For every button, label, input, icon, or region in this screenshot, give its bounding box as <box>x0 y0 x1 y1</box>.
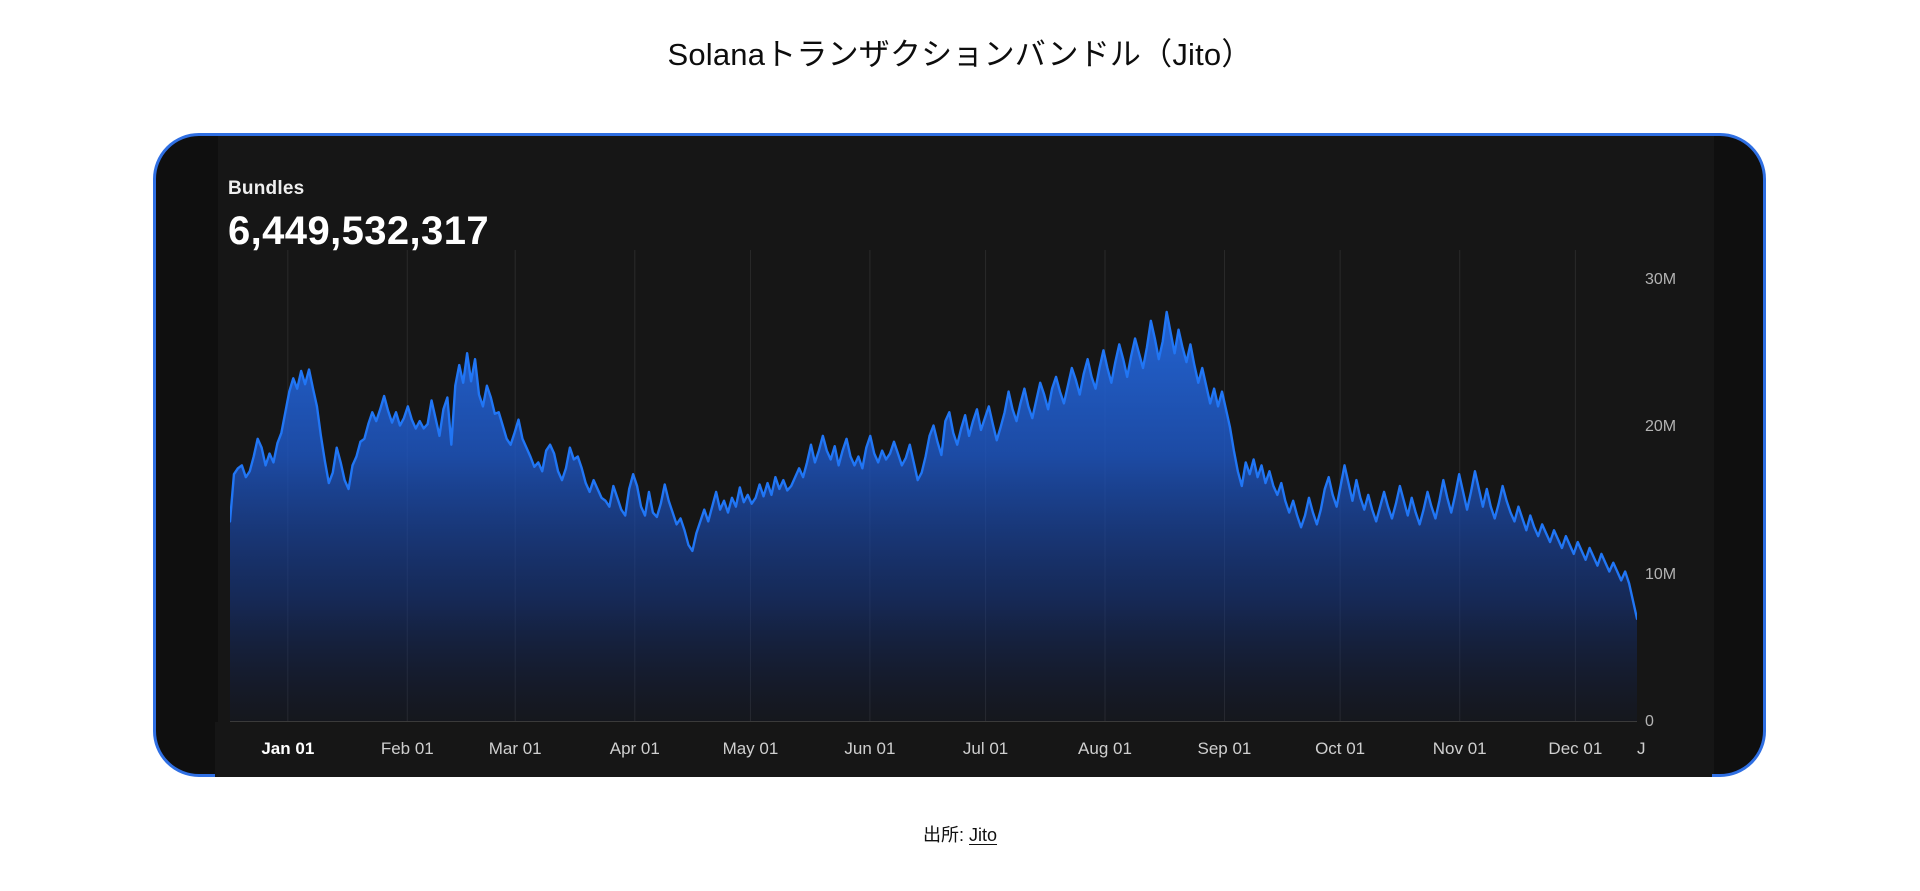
source-prefix: 出所: <box>923 825 969 845</box>
area-fill <box>230 312 1637 722</box>
area-chart-plot[interactable] <box>230 250 1637 722</box>
y-axis-tick: 30M <box>1645 271 1676 289</box>
x-axis-tick: Feb 01 <box>381 737 434 761</box>
metric-label: Bundles <box>228 177 489 201</box>
source-note: 出所: Jito <box>0 822 1920 848</box>
x-axis-tick: May 01 <box>723 737 779 761</box>
x-axis-tick: Nov 01 <box>1433 737 1487 761</box>
x-axis-tick: Dec 01 <box>1548 737 1602 761</box>
chart-header: Bundles 6,449,532,317 <box>228 177 489 255</box>
x-axis-tick: Apr 01 <box>610 737 660 761</box>
x-axis-tick: Mar 01 <box>489 737 542 761</box>
x-axis-tick: Jul 01 <box>963 737 1008 761</box>
x-axis-tick: J <box>1637 737 1649 761</box>
source-link[interactable]: Jito <box>969 825 997 845</box>
area-chart-svg <box>230 250 1637 722</box>
x-axis-tick: Sep 01 <box>1198 737 1252 761</box>
metric-value: 6,449,532,317 <box>228 207 489 255</box>
x-axis-tick: Aug 01 <box>1078 737 1132 761</box>
y-axis-tick: 0 <box>1645 713 1654 731</box>
screenshot-root: Solanaトランザクションバンドル（Jito） Bundles 6,449,5… <box>0 0 1920 891</box>
x-axis-labels: Jan 01Feb 01Mar 01Apr 01May 01Jun 01Jul … <box>230 737 1720 763</box>
page-title: Solanaトランザクションバンドル（Jito） <box>0 34 1920 76</box>
y-axis-tick: 20M <box>1645 418 1676 436</box>
x-axis-tick: Jun 01 <box>844 737 895 761</box>
x-axis-tick: Jan 01 <box>261 737 314 761</box>
y-axis-tick: 10M <box>1645 566 1676 584</box>
y-axis-labels: 010M20M30M <box>1645 250 1735 722</box>
x-axis-tick: Oct 01 <box>1315 737 1365 761</box>
